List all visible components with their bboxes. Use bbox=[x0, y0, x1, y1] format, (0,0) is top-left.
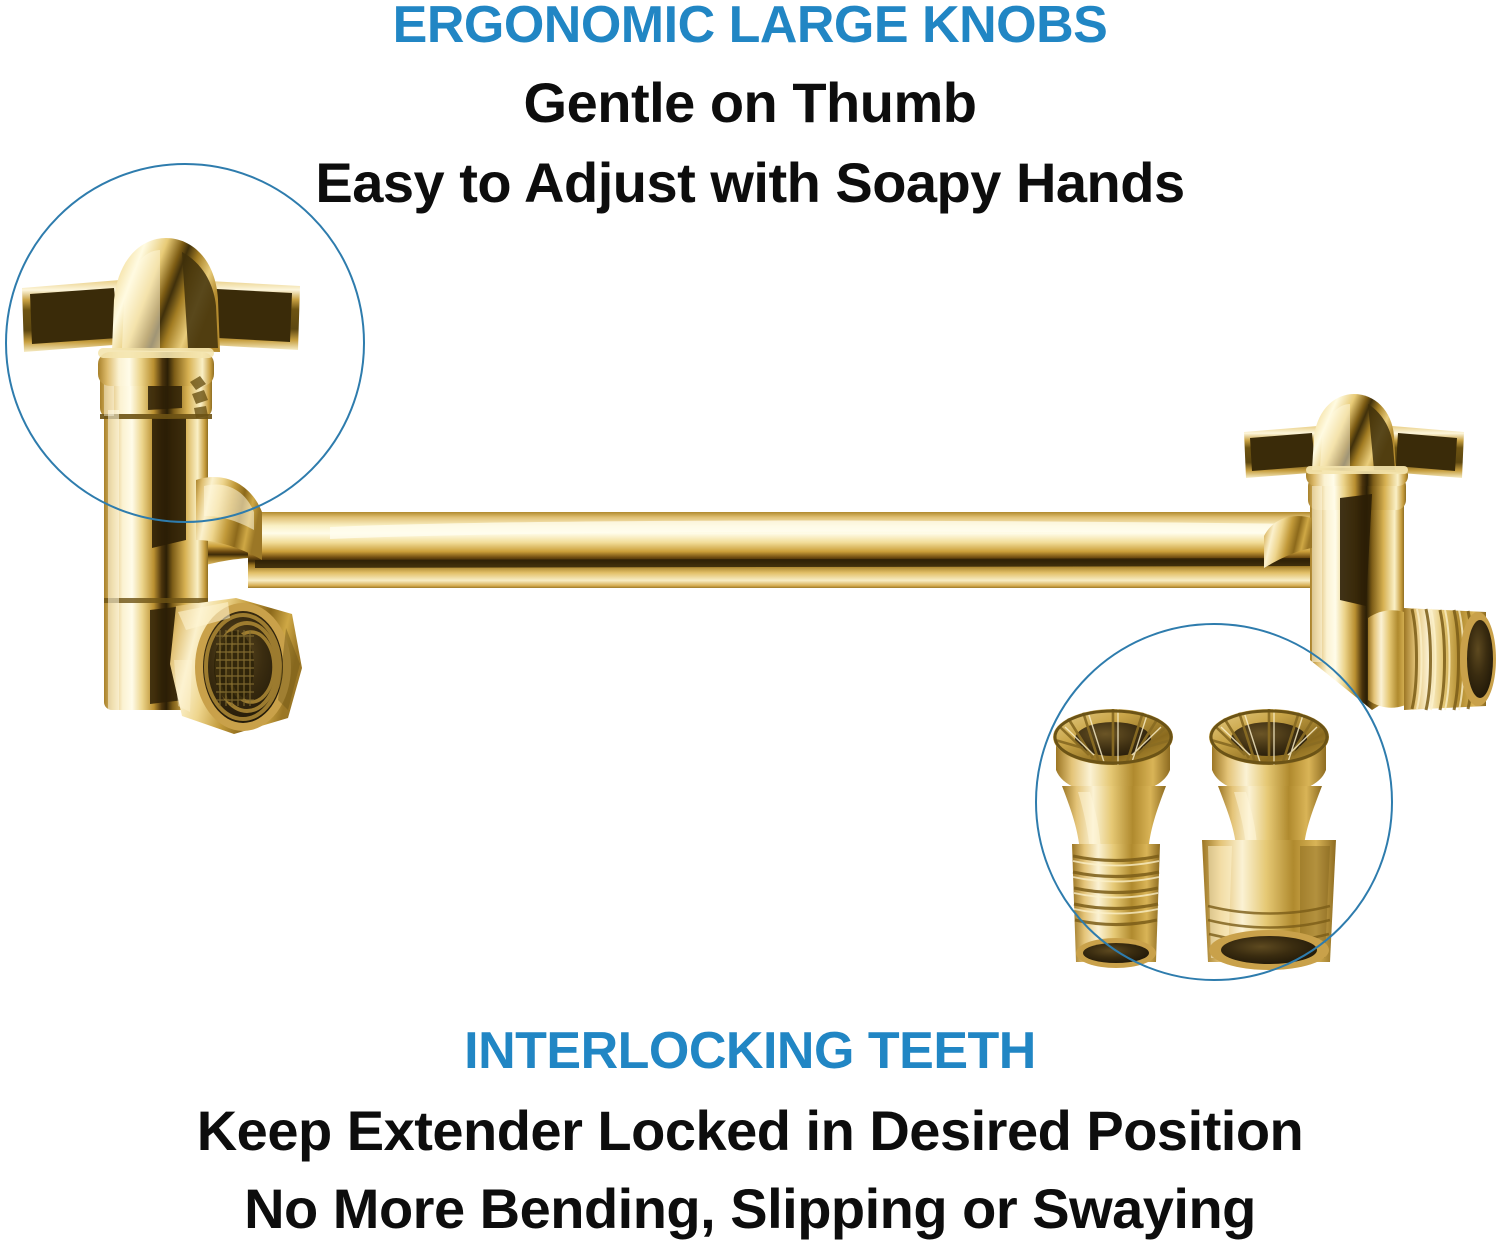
bottom-subline-2-text: No More Bending, Slipping or Swaying bbox=[244, 1177, 1256, 1240]
extension-arm-tube bbox=[168, 512, 1330, 588]
bottom-subline-1: Keep Extender Locked in Desired Position bbox=[0, 1100, 1500, 1162]
interlocking-teeth-fitting-male bbox=[1053, 709, 1173, 968]
top-headline-text: ERGONOMIC LARGE KNOBS bbox=[393, 0, 1108, 54]
infographic-page: ERGONOMIC LARGE KNOBS Gentle on Thumb Ea… bbox=[0, 0, 1500, 1244]
bottom-subline-1-text: Keep Extender Locked in Desired Position bbox=[197, 1099, 1304, 1162]
bottom-headline: INTERLOCKING TEETH bbox=[0, 1022, 1500, 1080]
top-subline-1: Gentle on Thumb bbox=[0, 72, 1500, 134]
interlocking-teeth-fitting-female bbox=[1202, 709, 1336, 970]
right-threaded-outlet bbox=[1368, 608, 1496, 710]
callout-circle-teeth bbox=[1035, 623, 1393, 981]
top-subline-1-text: Gentle on Thumb bbox=[524, 71, 977, 134]
top-subline-2-text: Easy to Adjust with Soapy Hands bbox=[315, 151, 1184, 214]
bottom-subline-2: No More Bending, Slipping or Swaying bbox=[0, 1178, 1500, 1240]
left-cross-handle-knob bbox=[22, 238, 300, 418]
left-valve-body bbox=[100, 372, 262, 710]
top-headline: ERGONOMIC LARGE KNOBS bbox=[0, 0, 1500, 54]
bottom-headline-text: INTERLOCKING TEETH bbox=[464, 1022, 1036, 1080]
right-valve-body bbox=[1264, 476, 1406, 710]
top-subline-2: Easy to Adjust with Soapy Hands bbox=[0, 152, 1500, 214]
right-cross-handle-knob bbox=[1244, 394, 1464, 486]
left-inlet-nut bbox=[170, 598, 302, 734]
callout-circle-knob bbox=[5, 163, 365, 523]
